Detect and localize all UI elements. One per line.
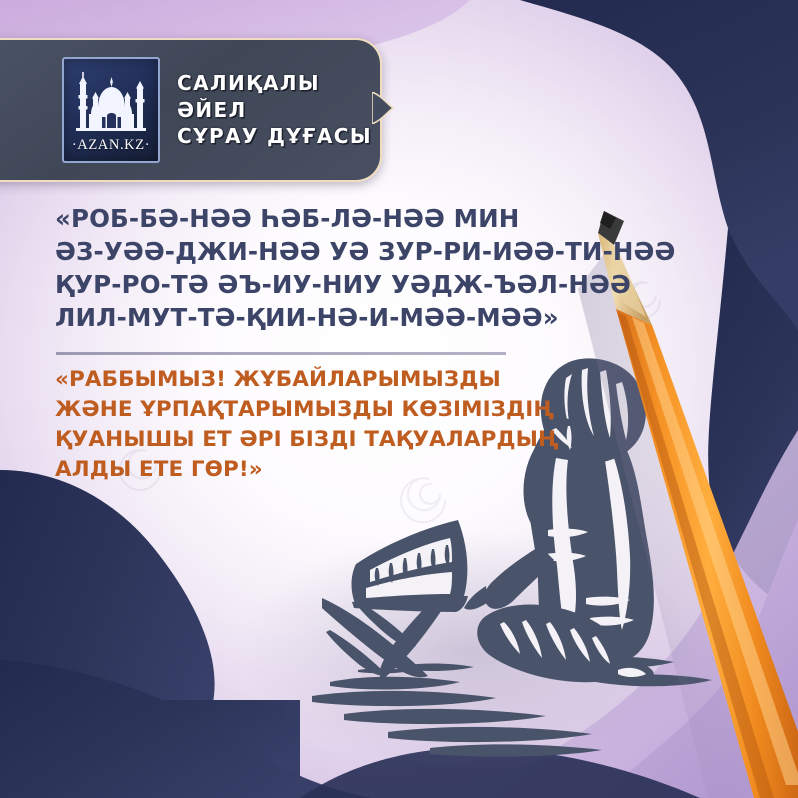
translation-line-4: АЛДЫ ЕТЕ ГӨР!» [55, 455, 655, 485]
translit-line-4: ЛИЛ-МУТ-ТӘ-ҚИИ-НӘ-И-МӘӘ-МӘӘ» [55, 302, 655, 335]
translation-text: «РАББЫМЫЗ! ЖҰБАЙЛАРЫМЫЗДЫ ЖӘНЕ ҰРПАҚТАРЫ… [55, 365, 655, 485]
translit-line-2: ӘЗ-УӘӘ-ДЖИ-НӘӘ УӘ ЗУР-РИ-ИӘӘ-ТИ-НӘӘ [55, 236, 655, 269]
translit-line-3: ҚУР-РО-ТӘ ӘЪ-ИУ-НИУ УӘДЖ-ЪӘЛ-НӘӘ [55, 269, 655, 302]
header-title: САЛИҚАЛЫ ӘЙЕЛ СҰРАУ ДҰҒАСЫ [177, 70, 372, 149]
header-title-line-2: ӘЙЕЛ [177, 97, 372, 123]
section-divider [56, 352, 506, 355]
poster-canvas: ·AZAN.KZ· САЛИҚАЛЫ ӘЙЕЛ СҰРАУ ДҰҒАСЫ «РО… [0, 0, 798, 798]
azan-logo[interactable]: ·AZAN.KZ· [62, 57, 160, 163]
header-title-line-3: СҰРАУ ДҰҒАСЫ [177, 123, 372, 149]
header-title-line-1: САЛИҚАЛЫ [177, 70, 372, 96]
mosque-icon [71, 70, 151, 136]
translation-line-3: ҚУАНЫШЫ ЕТ ӘРІ БІЗДІ ТАҚУАЛАРДЫҢ [55, 425, 655, 455]
transliteration-text: «РОБ-БӘ-НӘӘ ҺӘБ-ЛӘ-НӘӘ МИН ӘЗ-УӘӘ-ДЖИ-НӘ… [55, 203, 655, 335]
translation-line-2: ЖӘНЕ ҰРПАҚТАРЫМЫЗДЫ КӨЗІМІЗДІҢ [55, 395, 655, 425]
logo-wordmark: ·AZAN.KZ· [72, 137, 150, 154]
figure-hand [464, 586, 488, 610]
brand-header-bar: ·AZAN.KZ· САЛИҚАЛЫ ӘЙЕЛ СҰРАУ ДҰҒАСЫ [0, 38, 382, 182]
notch-shape [372, 92, 393, 124]
translation-line-1: «РАББЫМЫЗ! ЖҰБАЙЛАРЫМЫЗДЫ [55, 365, 655, 395]
translit-line-1: «РОБ-БӘ-НӘӘ ҺӘБ-ЛӘ-НӘӘ МИН [55, 203, 655, 236]
header-notch-decoration [372, 92, 394, 124]
